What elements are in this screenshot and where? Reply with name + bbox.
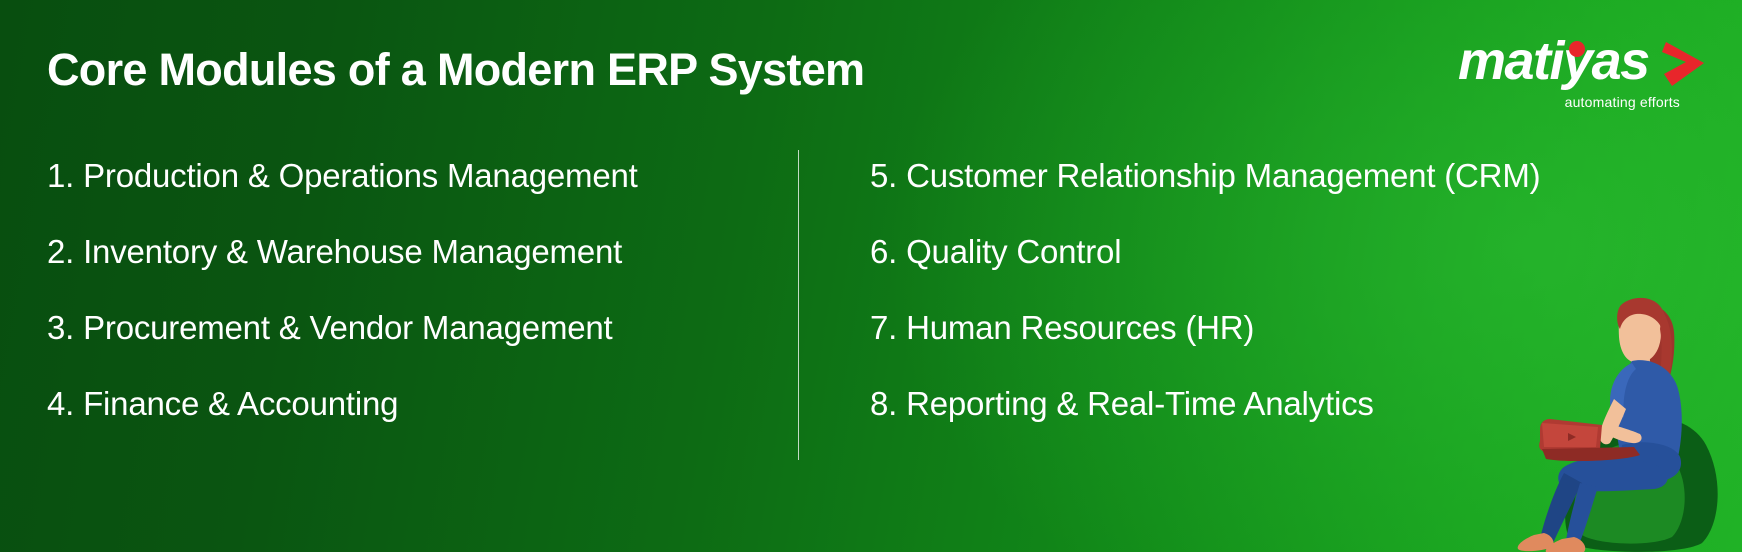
- modules-columns: 1. Production & Operations Management 2.…: [0, 138, 1742, 468]
- list-item: 5. Customer Relationship Management (CRM…: [870, 138, 1670, 214]
- logo-tagline: automating efforts: [1565, 94, 1680, 110]
- column-divider: [798, 150, 799, 460]
- list-item: 2. Inventory & Warehouse Management: [47, 214, 767, 290]
- list-item: 1. Production & Operations Management: [47, 138, 767, 214]
- list-item: 4. Finance & Accounting: [47, 366, 767, 442]
- modules-left-column: 1. Production & Operations Management 2.…: [47, 138, 767, 442]
- woman-with-laptop-illustration: [1482, 277, 1732, 552]
- chevron-right-icon: [1662, 40, 1708, 88]
- erp-modules-banner: Core Modules of a Modern ERP System mati…: [0, 0, 1742, 552]
- logo-wordmark: matiyas: [1458, 34, 1649, 88]
- matiyas-logo[interactable]: matiyas automating efforts: [1458, 34, 1710, 118]
- list-item: 3. Procurement & Vendor Management: [47, 290, 767, 366]
- logo-i-dot-icon: [1569, 41, 1585, 57]
- page-title: Core Modules of a Modern ERP System: [47, 44, 864, 96]
